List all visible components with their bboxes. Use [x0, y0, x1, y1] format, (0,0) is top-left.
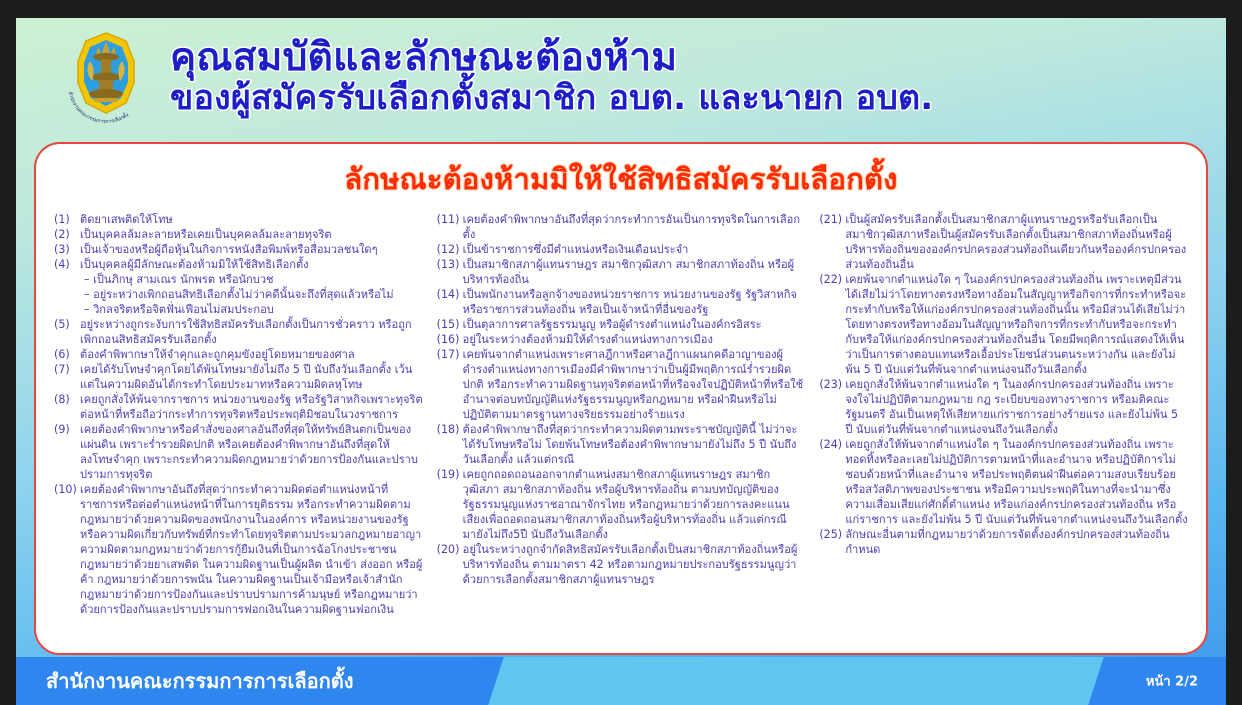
- clause-text: เป็นข้าราชการซึ่งมีตำแหน่งหรือเงินเดือนป…: [463, 242, 806, 257]
- clause-number: (13): [437, 257, 463, 272]
- footer-accent-shape: [488, 657, 1104, 705]
- clause-item: (25)ลักษณะอื่นตามที่กฎหมายว่าด้วยการจัดต…: [819, 527, 1188, 557]
- ect-emblem-icon: สำนักงานคณะกรรมการการเลือกตั้ง: [60, 27, 152, 127]
- clause-text: เป็นเจ้าของหรือผู้ถือหุ้นในกิจการหนังสือ…: [80, 242, 423, 257]
- clause-text: เคยถูกสั่งให้พ้นจากตำแหน่งใด ๆ ในองค์กรป…: [845, 437, 1188, 527]
- clause-text: เคยถูกถอดถอนออกจากตำแหน่งสมาชิกสภาผู้แทน…: [463, 467, 806, 542]
- clause-text: เคยถูกสั่งให้พ้นจากตำแหน่งใด ๆ ในองค์กรป…: [845, 377, 1188, 437]
- clause-text: เป็นบุคคลล้มละลายหรือเคยเป็นบุคคลล้มละลา…: [80, 227, 423, 242]
- clause-text: ต้องคำพิพากษาถึงที่สุดว่ากระทำความผิดตาม…: [463, 422, 806, 467]
- clause-number: (18): [437, 422, 463, 437]
- clause-number: (7): [54, 362, 80, 377]
- clause-item: (23)เคยถูกสั่งให้พ้นจากตำแหน่งใด ๆ ในองค…: [819, 377, 1188, 437]
- clause-number: (20): [437, 542, 463, 557]
- clause-number: (16): [437, 332, 463, 347]
- clause-item: (16)อยู่ในระหว่างต้องห้ามมิให้ดำรงตำแหน่…: [437, 332, 806, 347]
- clause-text: เป็นสมาชิกสภาผู้แทนราษฎร สมาชิกวุฒิสภา ส…: [463, 257, 806, 287]
- column-2: (11)เคยต้องคำพิพากษาอันถึงที่สุดว่ากระทำ…: [437, 212, 806, 617]
- clause-item: (19)เคยถูกถอดถอนออกจากตำแหน่งสมาชิกสภาผู…: [437, 467, 806, 542]
- clause-number: (1): [54, 212, 80, 227]
- clause-number: (12): [437, 242, 463, 257]
- slide-root: สำนักงานคณะกรรมการการเลือกตั้ง คุณสมบัติ…: [0, 0, 1242, 705]
- clause-text: ลักษณะอื่นตามที่กฎหมายว่าด้วยการจัดตั้งอ…: [845, 527, 1188, 557]
- clause-item: (1)ติดยาเสพติดให้โทษ: [54, 212, 423, 227]
- clause-item: (24)เคยถูกสั่งให้พ้นจากตำแหน่งใด ๆ ในองค…: [819, 437, 1188, 527]
- slide-frame: สำนักงานคณะกรรมการการเลือกตั้ง คุณสมบัติ…: [16, 18, 1226, 705]
- clause-text: เคยได้รับโทษจำคุกโดยได้พ้นโทษมายังไม่ถึง…: [80, 362, 423, 392]
- column-1: (1)ติดยาเสพติดให้โทษ(2)เป็นบุคคลล้มละลาย…: [54, 212, 423, 617]
- clause-item: (22)เคยพ้นจากตำแหน่งใด ๆ ในองค์กรปกครองส…: [819, 272, 1188, 377]
- page-title: คุณสมบัติและลักษณะต้องห้าม ของผู้สมัครรั…: [170, 38, 933, 117]
- clause-sub-item: – เป็นภิกษุ สามเณร นักพรต หรือนักบวช: [54, 272, 423, 287]
- title-line-primary: คุณสมบัติและลักษณะต้องห้าม: [170, 38, 933, 79]
- clause-number: (23): [819, 377, 845, 392]
- clause-item: (8)เคยถูกสั่งให้พ้นจากราชการ หน่วยงานของ…: [54, 392, 423, 422]
- clause-number: (11): [437, 212, 463, 227]
- slide-footer: สำนักงานคณะกรรมการการเลือกตั้ง หน้า 2/2: [16, 657, 1226, 705]
- clause-number: (2): [54, 227, 80, 242]
- clause-sub-item: – วิกลจริตหรือจิตฟั่นเฟือนไม่สมประกอบ: [54, 302, 423, 317]
- clause-item: (11)เคยต้องคำพิพากษาอันถึงที่สุดว่ากระทำ…: [437, 212, 806, 242]
- clause-number: (24): [819, 437, 845, 452]
- column-3: (21)เป็นผู้สมัครรับเลือกตั้งเป็นสมาชิกสภ…: [819, 212, 1188, 617]
- footer-organization: สำนักงานคณะกรรมการการเลือกตั้ง: [46, 665, 353, 697]
- clause-text: เคยพ้นจากตำแหน่งเพราะศาลฎีกาหรือศาลฎีกาแ…: [463, 347, 806, 422]
- slide-header: สำนักงานคณะกรรมการการเลือกตั้ง คุณสมบัติ…: [16, 18, 1226, 136]
- clause-text: เคยต้องคำพิพากษาหรือคำสั่งของศาลอันถึงที…: [80, 422, 423, 482]
- clause-item: (3)เป็นเจ้าของหรือผู้ถือหุ้นในกิจการหนัง…: [54, 242, 423, 257]
- clause-number: (22): [819, 272, 845, 287]
- clause-text: ติดยาเสพติดให้โทษ: [80, 212, 423, 227]
- clause-number: (15): [437, 317, 463, 332]
- clause-item: (15)เป็นตุลาการศาลรัฐธรรมนูญ หรือผู้ดำรง…: [437, 317, 806, 332]
- clause-text: เป็นตุลาการศาลรัฐธรรมนูญ หรือผู้ดำรงตำแห…: [463, 317, 806, 332]
- clause-item: (7)เคยได้รับโทษจำคุกโดยได้พ้นโทษมายังไม่…: [54, 362, 423, 392]
- clause-item: (5)อยู่ระหว่างถูกระงับการใช้สิทธิสมัครรั…: [54, 317, 423, 347]
- clause-text: อยู่ระหว่างถูกระงับการใช้สิทธิสมัครรับเล…: [80, 317, 423, 347]
- clause-number: (5): [54, 317, 80, 332]
- clause-item: (10)เคยต้องคำพิพากษาอันถึงที่สุดว่ากระทำ…: [54, 482, 423, 617]
- clause-text: อยู่ในระหว่างต้องห้ามมิให้ดำรงตำแหน่งทาง…: [463, 332, 806, 347]
- clause-text: อยู่ในระหว่างถูกจำกัดสิทธิสมัครรับเลือกต…: [463, 542, 806, 587]
- clause-item: (2)เป็นบุคคลล้มละลายหรือเคยเป็นบุคคลล้มล…: [54, 227, 423, 242]
- clause-item: (21)เป็นผู้สมัครรับเลือกตั้งเป็นสมาชิกสภ…: [819, 212, 1188, 272]
- clause-text: เคยต้องคำพิพากษาอันถึงที่สุดว่ากระทำการอ…: [463, 212, 806, 242]
- clause-item: (18)ต้องคำพิพากษาถึงที่สุดว่ากระทำความผิ…: [437, 422, 806, 467]
- clause-number: (8): [54, 392, 80, 407]
- clause-number: (19): [437, 467, 463, 482]
- clause-number: (9): [54, 422, 80, 437]
- columns-container: (1)ติดยาเสพติดให้โทษ(2)เป็นบุคคลล้มละลาย…: [46, 212, 1196, 617]
- clause-number: (4): [54, 257, 80, 272]
- clause-item: (4)เป็นบุคคลผู้มีลักษณะต้องห้ามมิให้ใช้ส…: [54, 257, 423, 272]
- clause-number: (10): [54, 482, 80, 497]
- clause-number: (3): [54, 242, 80, 257]
- clause-text: เคยต้องคำพิพากษาอันถึงที่สุดว่ากระทำความ…: [80, 482, 423, 617]
- card-title: ลักษณะต้องห้ามมิให้ใช้สิทธิสมัครรับเลือก…: [46, 156, 1196, 202]
- clause-number: (25): [819, 527, 845, 542]
- clause-text: เคยถูกสั่งให้พ้นจากราชการ หน่วยงานของรัฐ…: [80, 392, 423, 422]
- clause-item: (12)เป็นข้าราชการซึ่งมีตำแหน่งหรือเงินเด…: [437, 242, 806, 257]
- clause-number: (6): [54, 347, 80, 362]
- clause-item: (13)เป็นสมาชิกสภาผู้แทนราษฎร สมาชิกวุฒิส…: [437, 257, 806, 287]
- clause-text: ต้องคำพิพากษาให้จำคุกและถูกคุมขังอยู่โดย…: [80, 347, 423, 362]
- clause-text: เคยพ้นจากตำแหน่งใด ๆ ในองค์กรปกครองส่วนท…: [845, 272, 1188, 377]
- clause-item: (9)เคยต้องคำพิพากษาหรือคำสั่งของศาลอันถึ…: [54, 422, 423, 482]
- clause-item: (6)ต้องคำพิพากษาให้จำคุกและถูกคุมขังอยู่…: [54, 347, 423, 362]
- clause-item: (17)เคยพ้นจากตำแหน่งเพราะศาลฎีกาหรือศาลฎ…: [437, 347, 806, 422]
- clause-text: เป็นผู้สมัครรับเลือกตั้งเป็นสมาชิกสภาผู้…: [845, 212, 1188, 272]
- content-card: ลักษณะต้องห้ามมิให้ใช้สิทธิสมัครรับเลือก…: [34, 142, 1208, 655]
- clause-number: (14): [437, 287, 463, 302]
- clause-item: (14)เป็นพนักงานหรือลูกจ้างของหน่วยราชการ…: [437, 287, 806, 317]
- title-line-secondary: ของผู้สมัครรับเลือกตั้งสมาชิก อบต. และนา…: [170, 81, 933, 116]
- clause-sub-item: – อยู่ระหว่างเพิกถอนสิทธิเลือกตั้งไม่ว่า…: [54, 287, 423, 302]
- clause-number: (17): [437, 347, 463, 362]
- clause-number: (21): [819, 212, 845, 227]
- clause-item: (20)อยู่ในระหว่างถูกจำกัดสิทธิสมัครรับเล…: [437, 542, 806, 587]
- clause-text: เป็นพนักงานหรือลูกจ้างของหน่วยราชการ หน่…: [463, 287, 806, 317]
- clause-text: เป็นบุคคลผู้มีลักษณะต้องห้ามมิให้ใช้สิทธ…: [80, 257, 423, 272]
- footer-page-number: หน้า 2/2: [1146, 671, 1198, 692]
